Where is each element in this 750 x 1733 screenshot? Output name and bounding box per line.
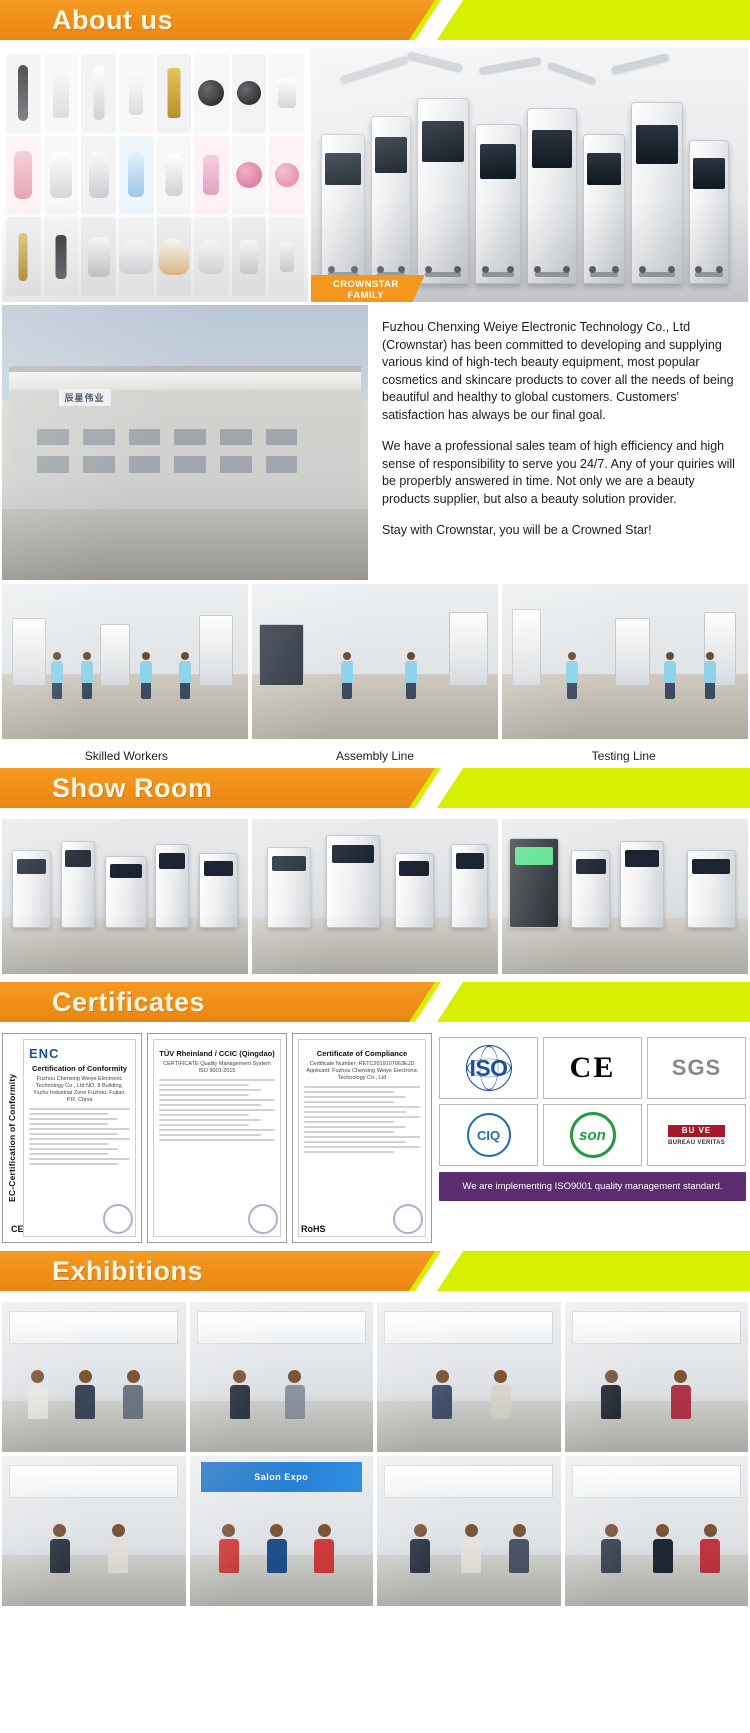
- visitor-figure: [671, 1370, 691, 1419]
- equipment-lineup-photo: CROWNSTAR FAMILY: [311, 48, 748, 302]
- product-item: [6, 136, 41, 215]
- worker-figure: [51, 652, 63, 699]
- section-title-certificates: Certificates: [0, 982, 750, 1022]
- visitor-figure: [601, 1370, 621, 1419]
- product-item: [81, 136, 116, 215]
- son-logo-text: son: [570, 1112, 616, 1158]
- product-item: [269, 217, 304, 296]
- product-item: [157, 136, 192, 215]
- worker-figure: [405, 652, 417, 699]
- section-title-exhibitions: Exhibitions: [0, 1251, 750, 1291]
- visitor-figure: [230, 1370, 250, 1419]
- workshop-photo-testing-line: [502, 584, 748, 739]
- bv-mark: BU VE BUREAU VERITAS: [668, 1125, 725, 1146]
- about-paragraph-3: Stay with Crownstar, you will be a Crown…: [382, 522, 740, 540]
- worker-figure: [81, 652, 93, 699]
- certificate-body-lines: [29, 1108, 130, 1165]
- machine-arm: [611, 53, 669, 74]
- visitor-figure: [28, 1370, 48, 1419]
- visitor-figure: [50, 1524, 70, 1573]
- product-item: [6, 217, 41, 296]
- factory-window: [129, 429, 161, 445]
- factory-window: [266, 456, 298, 472]
- factory-window: [37, 429, 69, 445]
- family-tag-line1: CROWNSTAR: [333, 279, 399, 290]
- factory-window: [266, 429, 298, 445]
- visitor-figure: [461, 1524, 481, 1573]
- section-banner-about: About us: [0, 0, 750, 40]
- exhibition-photo-8: [565, 1456, 749, 1606]
- certificate-enc: EC-Certification of Conformity ENC Certi…: [2, 1033, 142, 1243]
- product-item: [232, 136, 267, 215]
- worker-figure: [704, 652, 716, 699]
- factory-sign: 辰星伟业: [59, 389, 111, 406]
- showroom-photo-3: [502, 819, 748, 974]
- certificate-seal: [103, 1204, 133, 1234]
- visitor-figure: [75, 1370, 95, 1419]
- caption-skilled-workers: Skilled Workers: [2, 744, 251, 768]
- exhibition-photo-7: [377, 1456, 561, 1606]
- workshop-photo-skilled-workers: [2, 584, 248, 739]
- visitor-figure: [314, 1524, 334, 1573]
- workshop-photo-assembly-line: [252, 584, 498, 739]
- worker-figure: [179, 652, 191, 699]
- worker-figure: [664, 652, 676, 699]
- certificate-seal: [248, 1204, 278, 1234]
- product-item: [269, 136, 304, 215]
- certificate-seal: [393, 1204, 423, 1234]
- equipment-unit: [417, 98, 469, 284]
- certification-logo-grid: ISO CE SGS CIQ son BU VE BUREAU VERITAS: [439, 1037, 746, 1166]
- bureau-veritas-logo: BU VE BUREAU VERITAS: [647, 1104, 746, 1166]
- product-item: [157, 217, 192, 296]
- worker-figure: [140, 652, 152, 699]
- bv-logo-top: BU VE: [668, 1125, 725, 1137]
- certificate-heading: Certificate of Compliance: [304, 1049, 420, 1058]
- banner-spacer: [0, 1022, 750, 1030]
- visitor-figure: [285, 1370, 305, 1419]
- visitor-figure: [653, 1524, 673, 1573]
- factory-window: [174, 456, 206, 472]
- certificate-body-lines: [159, 1079, 275, 1141]
- certificate-tuv: TÜV Rheinland / CCIC (Qingdao) CERTIFICA…: [147, 1033, 287, 1243]
- equipment-unit: [631, 102, 683, 284]
- visitor-figure: [700, 1524, 720, 1573]
- exhibition-photo-4: [565, 1302, 749, 1452]
- product-item: [81, 217, 116, 296]
- ce-logo: CE: [543, 1037, 642, 1099]
- hero-product-row: CROWNSTAR FAMILY: [0, 48, 750, 302]
- caption-assembly-line: Assembly Line: [251, 744, 500, 768]
- machine-arm: [407, 51, 463, 71]
- machine-arm: [547, 62, 596, 85]
- exhibition-photo-1: [2, 1302, 186, 1452]
- visitor-figure: [432, 1370, 452, 1419]
- certificates-row: EC-Certification of Conformity ENC Certi…: [0, 1033, 750, 1243]
- visitor-figure: [491, 1370, 511, 1419]
- machine-arm: [479, 57, 541, 75]
- ciq-logo-text: CIQ: [467, 1113, 511, 1157]
- exhibitions-grid: Salon Expo: [0, 1302, 750, 1606]
- exhibitions-row-1: [2, 1302, 748, 1452]
- factory-window: [83, 429, 115, 445]
- factory-window: [129, 456, 161, 472]
- factory-window: [83, 456, 115, 472]
- workshop-photo-row: [0, 584, 750, 739]
- product-item: [269, 54, 304, 133]
- section-banner-certificates: Certificates: [0, 982, 750, 1022]
- product-collage-grid: [6, 54, 304, 296]
- about-text-block: Fuzhou Chenxing Weiye Electronic Technol…: [372, 305, 748, 580]
- product-item: [119, 54, 154, 133]
- equipment-unit: [475, 124, 521, 284]
- product-item: [6, 54, 41, 133]
- equipment-unit: [583, 134, 625, 284]
- product-item: [157, 54, 192, 133]
- certificate-heading: Certification of Conformity: [29, 1064, 130, 1073]
- visitor-figure: [123, 1370, 143, 1419]
- product-item: [44, 54, 79, 133]
- certificate-heading: TÜV Rheinland / CCIC (Qingdao): [159, 1049, 275, 1058]
- factory-ground: [2, 509, 368, 581]
- ce-badge: CE: [11, 1224, 24, 1234]
- worker-figure: [566, 652, 578, 699]
- certificate-vertical-label: EC-Certification of Conformity: [4, 1034, 20, 1242]
- certificate-logo: ENC: [29, 1046, 130, 1061]
- certificate-subtext: Fuzhou Chenxing Weiye Electronic Technol…: [29, 1076, 130, 1104]
- product-item: [44, 136, 79, 215]
- showroom-photo-1: [2, 819, 248, 974]
- sgs-logo: SGS: [647, 1037, 746, 1099]
- banner-spacer: [0, 1291, 750, 1299]
- booth-banner: Salon Expo: [201, 1462, 363, 1492]
- section-title-about: About us: [0, 0, 750, 40]
- factory-window: [37, 456, 69, 472]
- section-banner-exhibitions: Exhibitions: [0, 1251, 750, 1291]
- certificate-compliance: Certificate of Compliance Certificate Nu…: [292, 1033, 432, 1243]
- factory-building: 辰星伟业: [9, 366, 360, 509]
- product-item: [119, 217, 154, 296]
- machine-arm: [340, 55, 409, 83]
- product-item: [194, 54, 229, 133]
- sgs-logo-text: SGS: [672, 1055, 721, 1081]
- rohs-badge: RoHS: [301, 1224, 326, 1234]
- factory-window: [174, 429, 206, 445]
- certificate-body-lines: [304, 1086, 420, 1153]
- visitor-figure: [267, 1524, 287, 1573]
- family-tag-line2: FAMILY: [348, 290, 384, 301]
- certificate-subtext: Certificate Number: RETC2019107663EJD Ap…: [304, 1061, 420, 1082]
- son-logo: son: [543, 1104, 642, 1166]
- visitor-figure: [601, 1524, 621, 1573]
- ciq-logo: CIQ: [439, 1104, 538, 1166]
- factory-window: [220, 456, 252, 472]
- exhibition-photo-5: [2, 1456, 186, 1606]
- exhibition-photo-2: [190, 1302, 374, 1452]
- certificate-subtext: CERTIFICATE Quality Management System IS…: [159, 1061, 275, 1075]
- banner-spacer: [0, 808, 750, 816]
- product-item: [119, 136, 154, 215]
- bv-logo-bottom: BUREAU VERITAS: [668, 1140, 725, 1146]
- equipment-unit: [321, 134, 365, 284]
- factory-building-photo: 辰星伟业: [2, 305, 368, 580]
- caption-testing-line: Testing Line: [499, 744, 748, 768]
- equipment-unit: [689, 140, 729, 284]
- product-collage-photo: [2, 48, 308, 302]
- exhibition-photo-3: [377, 1302, 561, 1452]
- certification-logo-panel: ISO CE SGS CIQ son BU VE BUREAU VERITAS …: [437, 1033, 748, 1243]
- iso-logo-text: ISO: [469, 1055, 507, 1082]
- product-item: [81, 54, 116, 133]
- exhibitions-row-2: Salon Expo: [2, 1456, 748, 1606]
- workshop-captions: Skilled Workers Assembly Line Testing Li…: [0, 744, 750, 768]
- product-item: [194, 217, 229, 296]
- about-paragraph-2: We have a professional sales team of hig…: [382, 438, 740, 508]
- visitor-figure: [410, 1524, 430, 1573]
- product-item: [232, 217, 267, 296]
- worker-figure: [341, 652, 353, 699]
- product-item: [194, 136, 229, 215]
- equipment-unit: [527, 108, 577, 284]
- equipment-unit: [371, 116, 411, 284]
- crownstar-family-tag: CROWNSTAR FAMILY: [311, 275, 425, 302]
- banner-spacer: [0, 40, 750, 48]
- visitor-figure: [108, 1524, 128, 1573]
- product-item: [232, 54, 267, 133]
- section-title-showroom: Show Room: [0, 768, 750, 808]
- section-banner-showroom: Show Room: [0, 768, 750, 808]
- exhibition-photo-6: Salon Expo: [190, 1456, 374, 1606]
- product-item: [44, 217, 79, 296]
- showroom-photo-2: [252, 819, 498, 974]
- about-block: 辰星伟业 Fuzhou Chenxing Weiye Electronic Te…: [0, 305, 750, 580]
- visitor-figure: [509, 1524, 529, 1573]
- about-paragraph-1: Fuzhou Chenxing Weiye Electronic Technol…: [382, 319, 740, 424]
- iso-logo: ISO: [439, 1037, 538, 1099]
- factory-window: [220, 429, 252, 445]
- showroom-photo-row: [0, 819, 750, 974]
- iso9001-statement-banner: We are implementing ISO9001 quality mana…: [439, 1172, 746, 1201]
- visitor-figure: [219, 1524, 239, 1573]
- ce-logo-text: CE: [570, 1051, 616, 1085]
